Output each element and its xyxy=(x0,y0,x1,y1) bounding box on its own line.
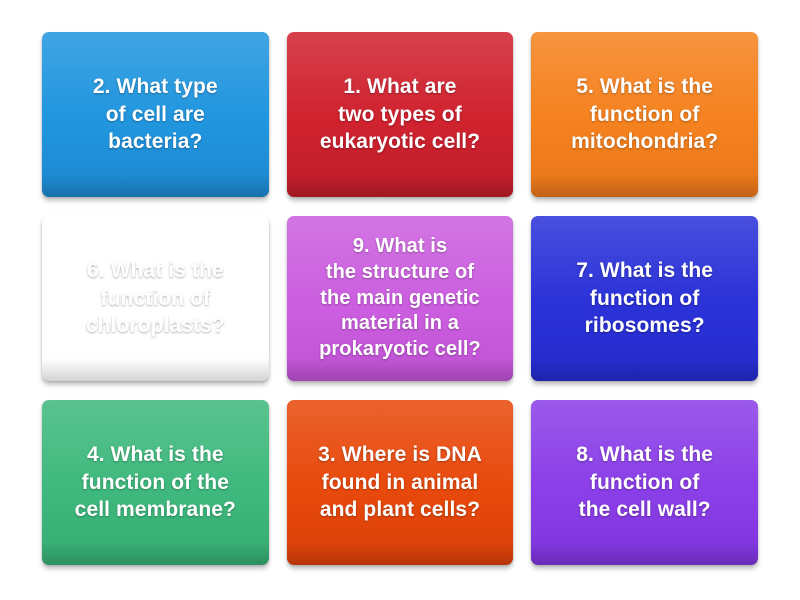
tile-label: 8. What is the function of the cell wall… xyxy=(576,441,713,525)
tile-label: 6. What is the function of chloroplasts? xyxy=(86,257,225,341)
tile-label: 4. What is the function of the cell memb… xyxy=(75,441,236,525)
tile-label: 7. What is the function of ribosomes? xyxy=(576,257,713,341)
tile-function-of-ribosomes[interactable]: 7. What is the function of ribosomes? xyxy=(531,216,758,381)
tile-function-of-mitochondria[interactable]: 5. What is the function of mitochondria? xyxy=(531,32,758,197)
tile-label: 2. What type of cell are bacteria? xyxy=(93,73,218,157)
tile-two-types-of-eukaryotic-cell[interactable]: 1. What are two types of eukaryotic cell… xyxy=(287,32,514,197)
tile-label: 9. What is the structure of the main gen… xyxy=(319,234,481,363)
tile-label: 1. What are two types of eukaryotic cell… xyxy=(320,73,480,157)
tile-structure-of-main-genetic-material-prokaryotic[interactable]: 9. What is the structure of the main gen… xyxy=(287,216,514,381)
tile-label: 5. What is the function of mitochondria? xyxy=(571,73,718,157)
tile-where-is-dna-found[interactable]: 3. Where is DNA found in animal and plan… xyxy=(287,400,514,565)
tile-function-of-cell-wall[interactable]: 8. What is the function of the cell wall… xyxy=(531,400,758,565)
tile-what-type-of-cell-are-bacteria[interactable]: 2. What type of cell are bacteria? xyxy=(42,32,269,197)
question-card-grid: 2. What type of cell are bacteria?1. Wha… xyxy=(0,0,800,600)
tile-label: 3. Where is DNA found in animal and plan… xyxy=(318,441,482,525)
tile-function-of-cell-membrane[interactable]: 4. What is the function of the cell memb… xyxy=(42,400,269,565)
tile-function-of-chloroplasts[interactable]: 6. What is the function of chloroplasts? xyxy=(42,216,269,381)
